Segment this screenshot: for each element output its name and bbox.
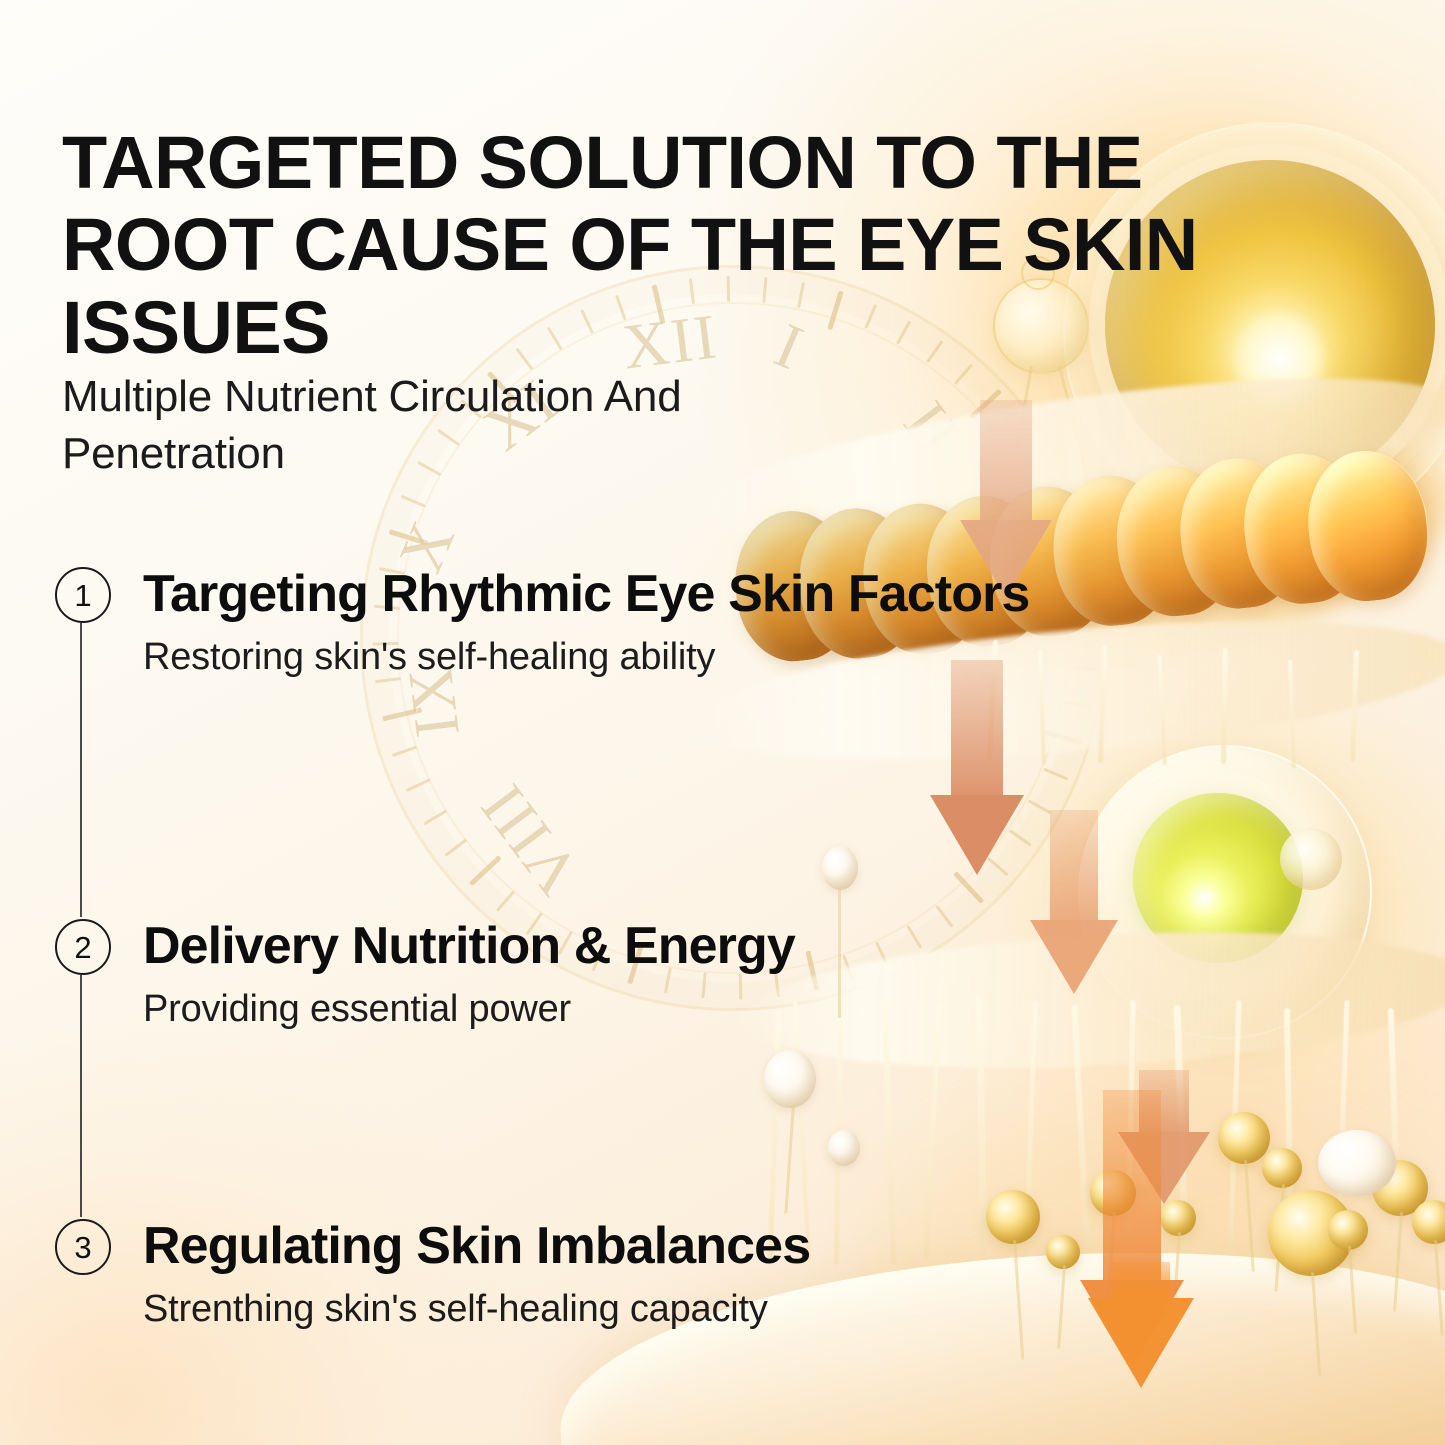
step-subtitle: Providing essential power: [143, 987, 795, 1033]
step-title: Regulating Skin Imbalances: [143, 1217, 810, 1275]
step-title: Targeting Rhythmic Eye Skin Factors: [143, 565, 1029, 623]
step-title: Delivery Nutrition & Energy: [143, 917, 795, 975]
step-number-badge: 2: [55, 919, 111, 975]
step-subtitle: Restoring skin's self-healing ability: [143, 635, 1029, 681]
poster-canvas: XIIIIIXIXIXVIII: [0, 0, 1445, 1445]
step-number-badge: 1: [55, 567, 111, 623]
page-subtitle: Multiple Nutrient Circulation And Penetr…: [62, 368, 822, 482]
step-subtitle: Strenthing skin's self-healing capacity: [143, 1287, 810, 1333]
list-item-step-1: 1 Targeting Rhythmic Eye Skin Factors Re…: [55, 565, 1029, 681]
list-item-step-3: 3 Regulating Skin Imbalances Strenthing …: [55, 1217, 810, 1333]
step-number-badge: 3: [55, 1219, 111, 1275]
page-title: TARGETED SOLUTION TO THE ROOT CAUSE OF T…: [62, 122, 1242, 371]
content-layer: TARGETED SOLUTION TO THE ROOT CAUSE OF T…: [0, 0, 1445, 1445]
list-item-step-2: 2 Delivery Nutrition & Energy Providing …: [55, 917, 795, 1033]
